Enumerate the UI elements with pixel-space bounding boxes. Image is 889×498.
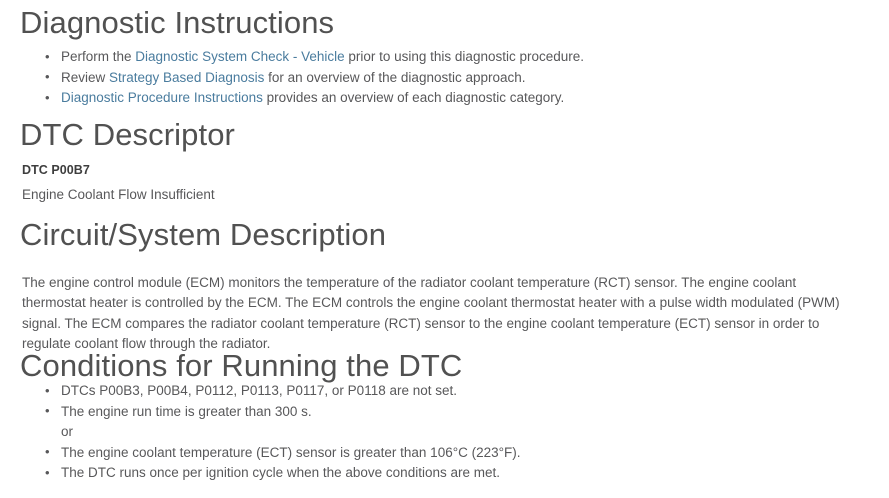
- heading-dtc-descriptor: DTC Descriptor: [20, 119, 235, 150]
- bullet-text-prefix: Perform the: [61, 49, 135, 64]
- list-item: DTCs P00B3, P00B4, P0112, P0113, P0117, …: [39, 381, 869, 402]
- list-item-conjunction: or: [39, 422, 869, 443]
- list-item: Review Strategy Based Diagnosis for an o…: [39, 68, 869, 89]
- list-item: Diagnostic Procedure Instructions provid…: [39, 88, 869, 109]
- document-page: Diagnostic Instructions Perform the Diag…: [0, 0, 889, 498]
- list-item: The DTC runs once per ignition cycle whe…: [39, 463, 869, 484]
- bullet-text-suffix: for an overview of the diagnostic approa…: [264, 70, 525, 85]
- heading-diagnostic-instructions: Diagnostic Instructions: [20, 7, 334, 38]
- bullet-text-suffix: prior to using this diagnostic procedure…: [345, 49, 584, 64]
- heading-circuit-system-description: Circuit/System Description: [20, 219, 386, 250]
- bullet-text-suffix: provides an overview of each diagnostic …: [263, 90, 564, 105]
- diagnostic-instructions-list: Perform the Diagnostic System Check - Ve…: [39, 47, 869, 109]
- link-diagnostic-system-check-vehicle[interactable]: Diagnostic System Check - Vehicle: [135, 49, 344, 64]
- heading-conditions-for-running-dtc: Conditions for Running the DTC: [20, 350, 462, 381]
- dtc-descriptor-block: DTC P00B7 Engine Coolant Flow Insufficie…: [22, 161, 215, 205]
- link-strategy-based-diagnosis[interactable]: Strategy Based Diagnosis: [109, 70, 264, 85]
- list-item: The engine coolant temperature (ECT) sen…: [39, 443, 869, 464]
- list-item: The engine run time is greater than 300 …: [39, 402, 869, 423]
- list-item: Perform the Diagnostic System Check - Ve…: [39, 47, 869, 68]
- bullet-text-prefix: Review: [61, 70, 109, 85]
- dtc-description: Engine Coolant Flow Insufficient: [22, 185, 215, 205]
- conditions-for-running-list: DTCs P00B3, P00B4, P0112, P0113, P0117, …: [39, 381, 869, 484]
- link-diagnostic-procedure-instructions[interactable]: Diagnostic Procedure Instructions: [61, 90, 263, 105]
- circuit-system-description-paragraph: The engine control module (ECM) monitors…: [22, 273, 852, 355]
- dtc-code: DTC P00B7: [22, 161, 215, 179]
